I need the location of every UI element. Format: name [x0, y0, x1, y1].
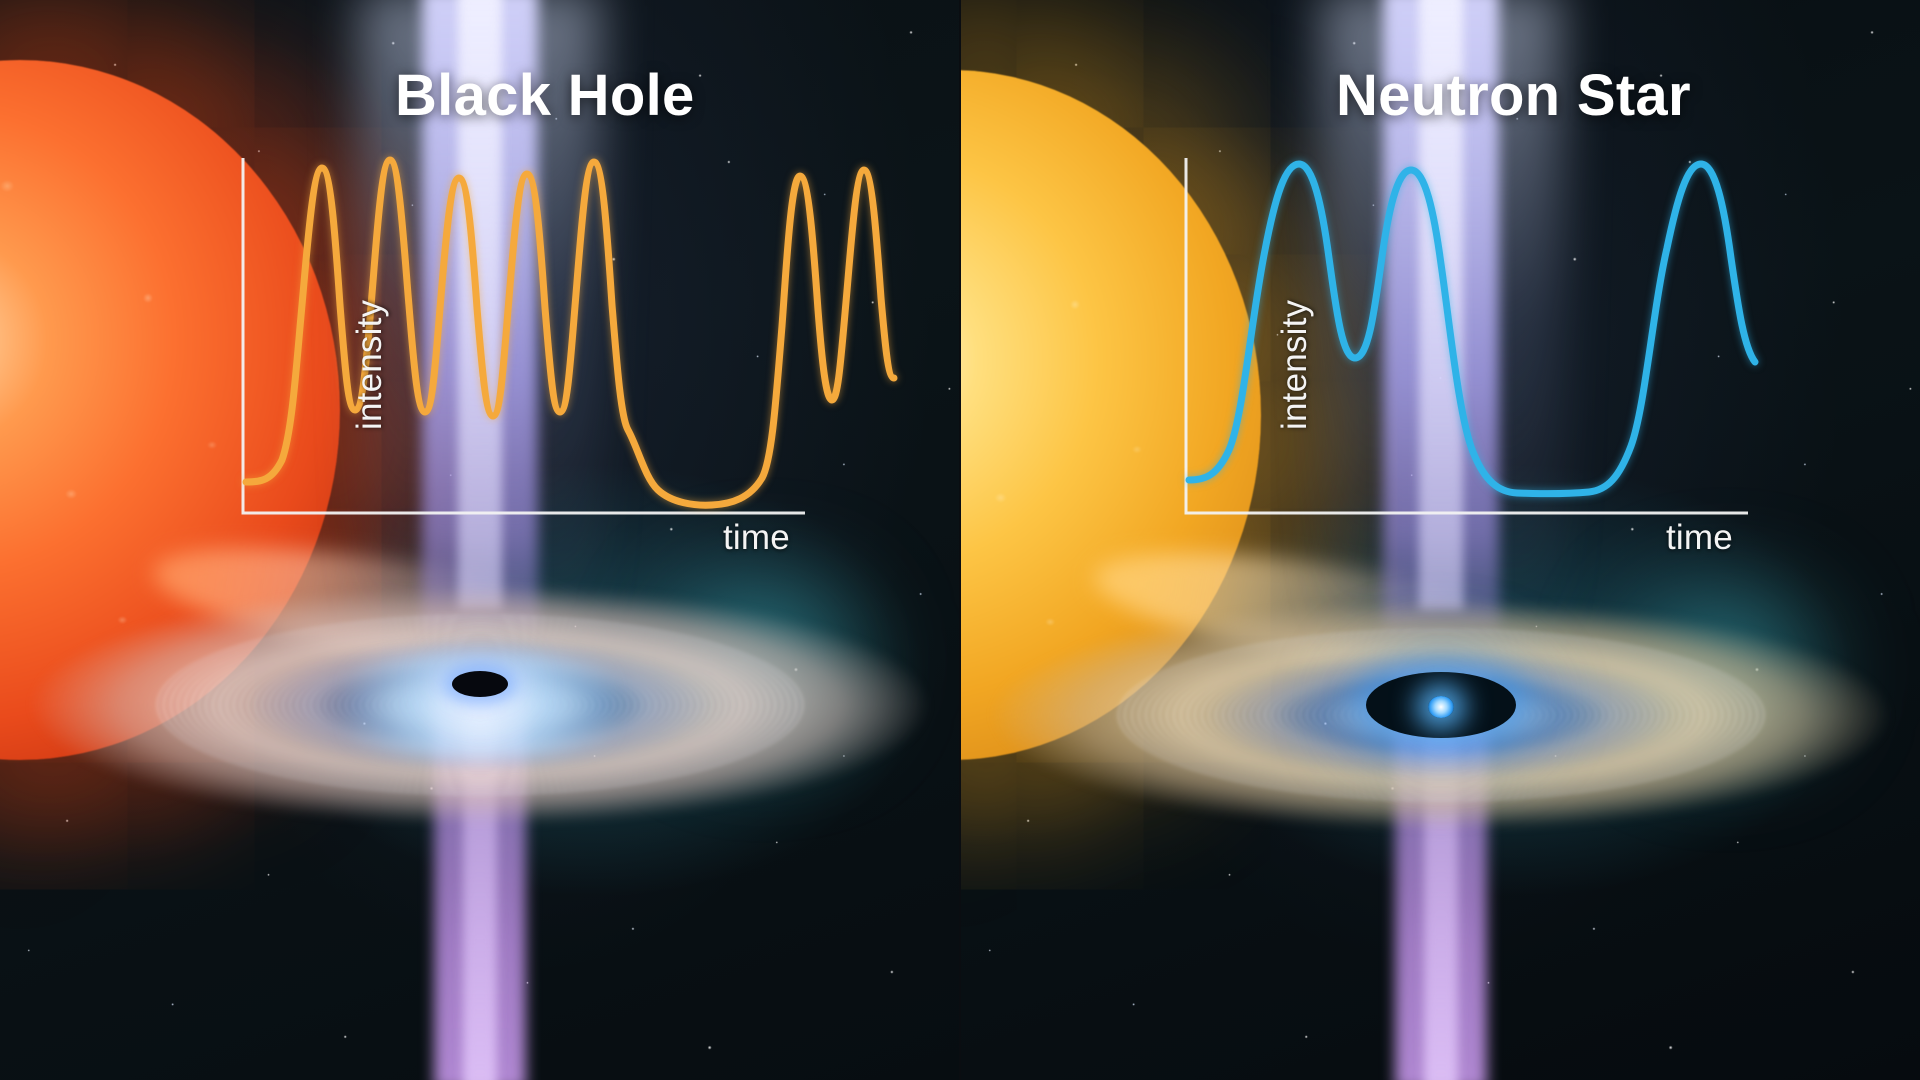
intensity-curve-black-hole	[246, 160, 894, 505]
page-title-black-hole: Black Hole	[395, 62, 695, 129]
chart-svg	[1093, 130, 1773, 560]
disk-central-glow	[300, 652, 660, 758]
light-curve-chart-black-hole: intensity	[150, 130, 830, 560]
accretion-disk	[30, 585, 930, 825]
illustration-stage: Black Hole intensity time	[0, 0, 1920, 1080]
panel-black-hole: Black Hole intensity time	[0, 0, 959, 1080]
panel-neutron-star: Neutron Star intensity time	[961, 0, 1920, 1080]
accretion-disk	[991, 600, 1891, 830]
intensity-curve-neutron-star	[1189, 164, 1755, 494]
x-axis-label-time: time	[1666, 518, 1733, 558]
chart-axes	[243, 158, 805, 513]
x-axis-label-time: time	[723, 518, 790, 558]
y-axis-label-intensity: intensity	[1275, 300, 1315, 430]
page-title-neutron-star: Neutron Star	[1336, 62, 1691, 129]
black-hole-core-icon	[452, 671, 508, 697]
light-curve-chart-neutron-star: intensity	[1093, 130, 1773, 560]
chart-svg	[150, 130, 830, 560]
y-axis-label-intensity: intensity	[350, 300, 390, 430]
panel-divider	[959, 0, 961, 1080]
neutron-star-core-icon	[1428, 696, 1454, 718]
